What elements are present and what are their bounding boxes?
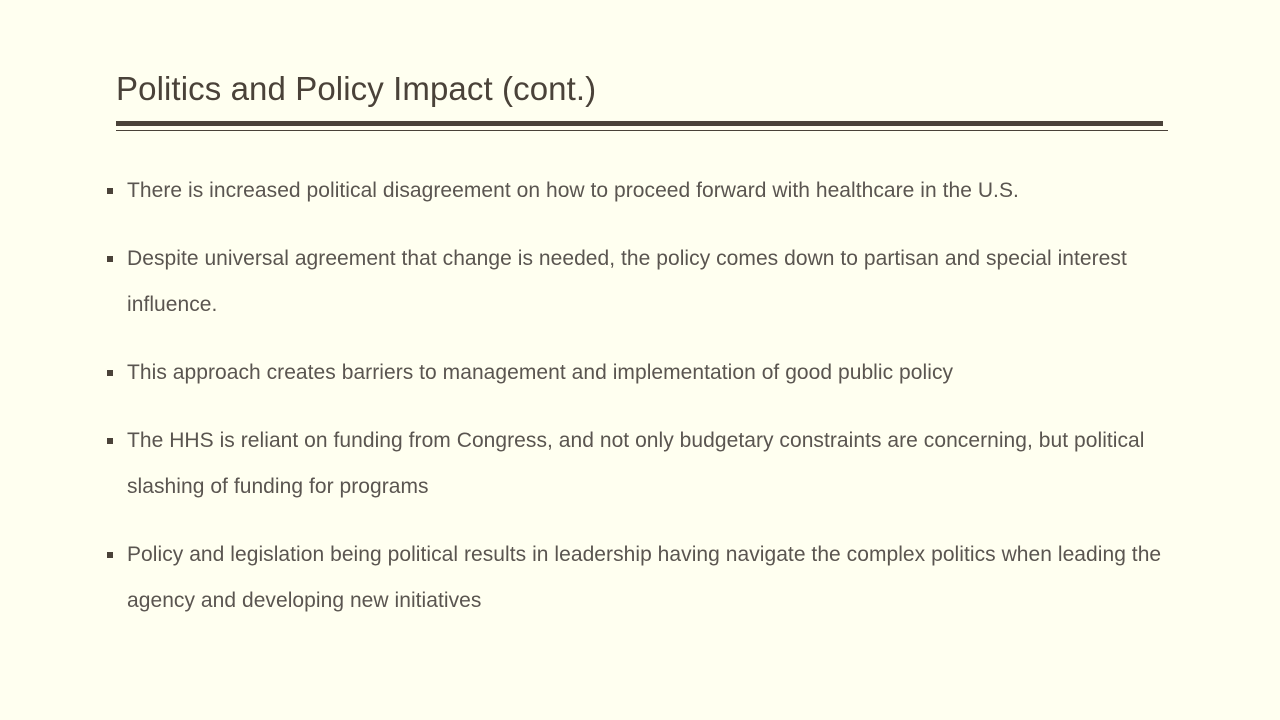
list-item: There is increased political disagreemen… — [104, 168, 1174, 214]
title-block: Politics and Policy Impact (cont.) — [116, 66, 1168, 112]
divider-thick-rule — [116, 121, 1163, 126]
list-item: Policy and legislation being political r… — [104, 532, 1174, 624]
square-bullet-icon — [107, 438, 113, 444]
square-bullet-icon — [107, 552, 113, 558]
square-bullet-icon — [107, 256, 113, 262]
divider-thin-rule — [116, 130, 1168, 131]
list-item: This approach creates barriers to manage… — [104, 350, 1174, 396]
list-item-text: There is increased political disagreemen… — [127, 168, 1174, 214]
list-item-text: The HHS is reliant on funding from Congr… — [127, 418, 1174, 510]
bullet-list: There is increased political disagreemen… — [104, 168, 1174, 624]
square-bullet-icon — [107, 370, 113, 376]
presentation-slide: Politics and Policy Impact (cont.) There… — [0, 0, 1280, 720]
list-item-text: Policy and legislation being political r… — [127, 532, 1174, 624]
list-item-text: This approach creates barriers to manage… — [127, 350, 1174, 396]
square-bullet-icon — [107, 188, 113, 194]
list-item: Despite universal agreement that change … — [104, 236, 1174, 328]
title-divider — [116, 121, 1168, 135]
list-item: The HHS is reliant on funding from Congr… — [104, 418, 1174, 510]
page-title: Politics and Policy Impact (cont.) — [116, 66, 1168, 112]
list-item-text: Despite universal agreement that change … — [127, 236, 1174, 328]
